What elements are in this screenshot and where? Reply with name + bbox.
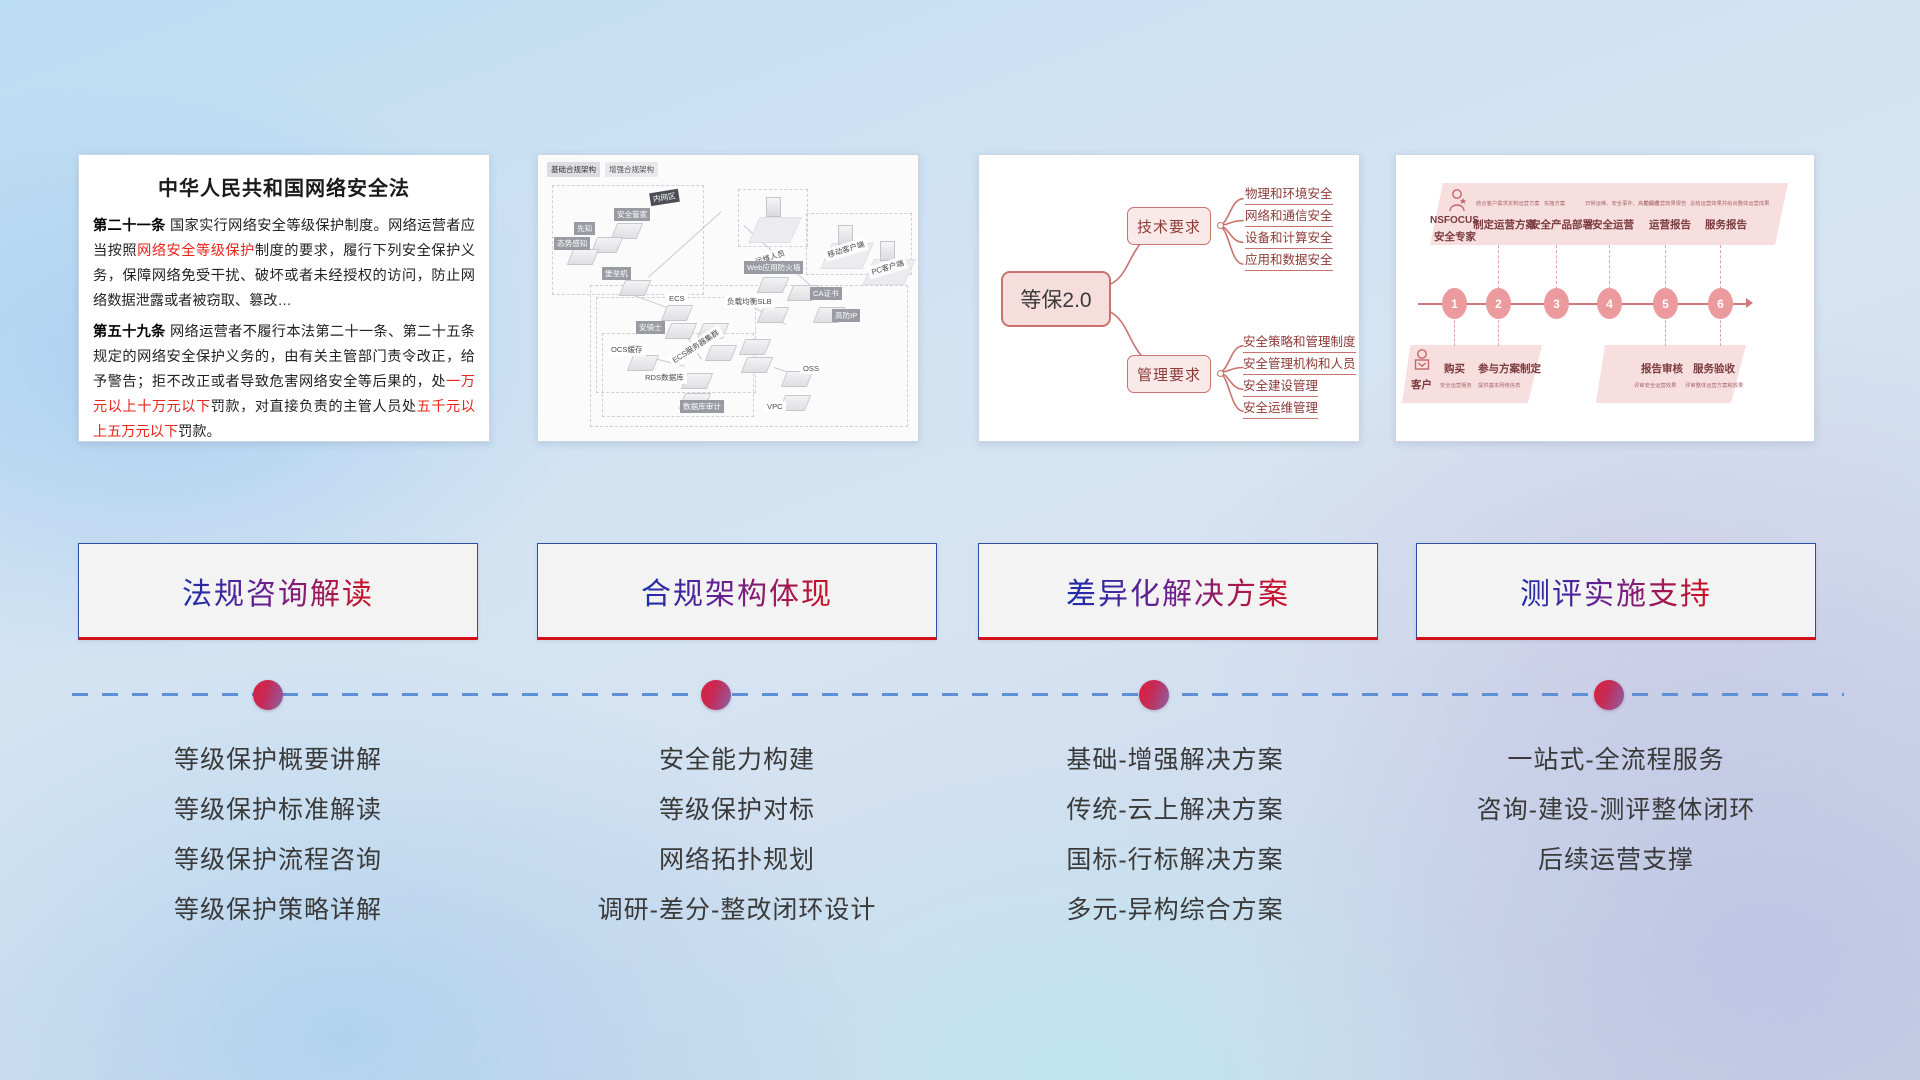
- timeline-bottom-sub-1: 安全运营服务: [1440, 381, 1472, 389]
- preview-cards-row: 中华人民共和国网络安全法 第二十一条 国家实行网络安全等级保护制度。网络运营者应…: [0, 154, 1920, 442]
- list-item: 等级保护策略详解: [78, 885, 478, 935]
- detail-list-column-2: 安全能力构建 等级保护对标 网络拓扑规划 调研-差分-整改闭环设计: [517, 735, 957, 935]
- headline-label-4: 测评实施支持: [1520, 569, 1712, 613]
- timeline-top-title-5: 服务报告: [1705, 217, 1747, 232]
- timeline-top-sub-5: 总结运营效果并给出整体运营成果: [1690, 199, 1769, 207]
- law-body: 第二十一条 国家实行网络安全等级保护制度。网络运营者应当按照网络安全等级保护制度…: [79, 214, 489, 442]
- timeline-step-3[interactable]: 3: [1544, 288, 1569, 319]
- timeline-top-title-3: 安全运营: [1592, 217, 1634, 232]
- architecture-diagram: 基础合规架构 增强合规架构: [538, 155, 918, 441]
- architecture-label-sa: 态势感知: [554, 237, 590, 250]
- timeline-connector-top-6: [1720, 245, 1721, 289]
- detail-list-column-1: 等级保护概要讲解 等级保护标准解读 等级保护流程咨询 等级保护策略详解: [78, 735, 478, 935]
- expert-brand-label: NSFOCUS: [1430, 215, 1479, 226]
- mindmap-branch-management[interactable]: 管理要求: [1127, 355, 1211, 393]
- progress-dot-2[interactable]: [701, 680, 731, 710]
- timeline-top-title-1: 制定运营方案: [1473, 217, 1536, 232]
- mindmap-leaf-tech-1: 物理和环境安全: [1245, 183, 1333, 205]
- architecture-label-rds: RDS数据库: [642, 371, 687, 384]
- headline-box-compliance-architecture[interactable]: 合规架构体现: [537, 543, 937, 640]
- architecture-label-antiddos: 高防IP: [832, 309, 860, 322]
- timeline-bottom-sub-3: 评审安全运营效果: [1634, 381, 1676, 389]
- timeline-connector-bot-1: [1454, 320, 1455, 346]
- timeline-step-2[interactable]: 2: [1486, 288, 1511, 319]
- mindmap-leaf-mgmt-3: 安全建设管理: [1243, 375, 1318, 397]
- headline-box-differentiated-solution[interactable]: 差异化解决方案: [978, 543, 1378, 640]
- progress-dot-1[interactable]: [253, 680, 283, 710]
- progress-dot-4[interactable]: [1594, 680, 1624, 710]
- headline-label-2: 合规架构体现: [641, 569, 833, 613]
- mindmap-branch-technical[interactable]: 技术要求: [1127, 207, 1211, 245]
- timeline-step-6[interactable]: 6: [1708, 288, 1733, 319]
- headline-box-regulation-consulting[interactable]: 法规咨询解读: [78, 543, 478, 640]
- list-item: 多元-异构综合方案: [955, 885, 1395, 935]
- card-mindmap-dengbao[interactable]: 等保2.0 技术要求 物理和环境安全 网络和通信安全 设备和计算安全 应用和数据…: [978, 154, 1360, 442]
- law-title: 中华人民共和国网络安全法: [79, 172, 489, 201]
- mindmap: 等保2.0 技术要求 物理和环境安全 网络和通信安全 设备和计算安全 应用和数据…: [979, 155, 1359, 441]
- architecture-label-ocs: OCS缓存: [608, 343, 646, 356]
- card-cloud-architecture[interactable]: 基础合规架构 增强合规架构: [537, 154, 919, 442]
- architecture-label-ecs: ECS: [666, 293, 688, 304]
- timeline-connector-top-4: [1609, 245, 1610, 289]
- nsfocus-timeline: NSFOCUS 安全专家 客户 1 2 3 4 5 6: [1396, 155, 1814, 441]
- timeline-bottom-title-4: 服务验收: [1693, 361, 1735, 376]
- list-item: 调研-差分-整改闭环设计: [517, 885, 957, 935]
- timeline-bottom-title-3: 报告审核: [1641, 361, 1683, 376]
- customer-avatar-icon: [1410, 347, 1434, 373]
- list-item: 安全能力构建: [517, 735, 957, 785]
- law-article-21-label: 第二十一条: [93, 218, 166, 234]
- law-article-59-text-b: 罚款，对直接负责的主管人员处: [211, 399, 417, 415]
- list-item: 传统-云上解决方案: [955, 785, 1395, 835]
- mindmap-collapse-dot-management[interactable]: [1217, 370, 1224, 377]
- mindmap-leaf-mgmt-4: 安全运维管理: [1243, 397, 1318, 419]
- timeline-bottom-title-2: 参与方案制定: [1478, 361, 1541, 376]
- customer-role-label: 客户: [1411, 377, 1432, 392]
- mindmap-leaf-tech-3: 设备和计算安全: [1245, 227, 1333, 249]
- progress-dot-3[interactable]: [1139, 680, 1169, 710]
- list-item: 一站式-全流程服务: [1396, 735, 1836, 785]
- timeline-arrow-icon: [1746, 298, 1753, 308]
- law-article-21: 第二十一条 国家实行网络安全等级保护制度。网络运营者应当按照网络安全等级保护制度…: [93, 214, 475, 314]
- timeline-step-5[interactable]: 5: [1653, 288, 1678, 319]
- timeline-axis: [1418, 303, 1748, 305]
- timeline-step-1[interactable]: 1: [1442, 288, 1467, 319]
- slide-canvas: 中华人民共和国网络安全法 第二十一条 国家实行网络安全等级保护制度。网络运营者应…: [0, 0, 1920, 1080]
- tab-basic-architecture[interactable]: 基础合规架构: [547, 162, 600, 177]
- card-nsfocus-timeline[interactable]: NSFOCUS 安全专家 客户 1 2 3 4 5 6: [1395, 154, 1815, 442]
- mindmap-leaf-mgmt-2: 安全管理机构和人员: [1243, 353, 1356, 375]
- expert-role-label: 安全专家: [1434, 229, 1476, 244]
- detail-list-column-3: 基础-增强解决方案 传统-云上解决方案 国标-行标解决方案 多元-异构综合方案: [955, 735, 1395, 935]
- headline-row: 法规咨询解读 合规架构体现 差异化解决方案 测评实施支持: [0, 543, 1920, 645]
- architecture-label-agent: 安骑士: [636, 321, 665, 334]
- architecture-server-internet: [766, 197, 781, 217]
- timeline-top-sub-1: 结合客户需求定制运营方案: [1476, 199, 1540, 207]
- timeline-connector-top-3: [1556, 245, 1557, 289]
- timeline-connector-bot-5: [1665, 320, 1666, 346]
- architecture-label-guard: 安全管家: [614, 208, 650, 221]
- timeline-top-title-4: 运营报告: [1649, 217, 1691, 232]
- architecture-label-waf: Web应用防火墙: [744, 261, 803, 274]
- list-item: 后续运营支撑: [1396, 835, 1836, 885]
- list-item: 国标-行标解决方案: [955, 835, 1395, 885]
- timeline-step-4[interactable]: 4: [1597, 288, 1622, 319]
- architecture-label-xianzhi: 先知: [574, 222, 595, 235]
- law-article-59: 第五十九条 网络运营者不履行本法第二十一条、第二十五条规定的网络安全保护义务的，…: [93, 320, 475, 442]
- architecture-label-vpc: VPC: [764, 401, 786, 412]
- list-item: 等级保护标准解读: [78, 785, 478, 835]
- mindmap-leaf-mgmt-1: 安全策略和管理制度: [1243, 331, 1356, 353]
- architecture-label-oss: OSS: [800, 363, 822, 374]
- detail-list-column-4: 一站式-全流程服务 咨询-建设-测评整体闭环 后续运营支撑: [1396, 735, 1836, 885]
- timeline-top-title-2: 安全产品部署: [1530, 217, 1593, 232]
- mindmap-leaf-tech-2: 网络和通信安全: [1245, 205, 1333, 227]
- list-item: 基础-增强解决方案: [955, 735, 1395, 785]
- timeline-connector-top-5: [1665, 245, 1666, 289]
- timeline-bottom-sub-2: 提供基本网络信息: [1478, 381, 1520, 389]
- headline-label-3: 差异化解决方案: [1066, 569, 1290, 613]
- timeline-connector-top-2: [1498, 245, 1499, 289]
- architecture-label-bastion: 堡垒机: [602, 267, 631, 280]
- list-item: 等级保护概要讲解: [78, 735, 478, 785]
- timeline-bottom-sub-4: 评审整体运营方案和效果: [1685, 381, 1743, 389]
- expert-avatar-icon: [1444, 187, 1470, 213]
- timeline-bottom-title-1: 购买: [1444, 361, 1465, 376]
- law-article-59-label: 第五十九条: [93, 324, 166, 340]
- timeline-top-sub-2: 实施方案: [1544, 199, 1565, 207]
- progress-dashed-line: [72, 693, 1844, 696]
- headline-box-assessment-support[interactable]: 测评实施支持: [1416, 543, 1816, 640]
- tab-enhanced-architecture[interactable]: 增强合规架构: [605, 162, 658, 177]
- architecture-tabs: 基础合规架构 增强合规架构: [547, 162, 658, 177]
- headline-label-1: 法规咨询解读: [182, 569, 374, 613]
- timeline-connector-bot-2: [1498, 320, 1499, 346]
- architecture-label-ca: CA证书: [810, 287, 842, 300]
- list-item: 网络拓扑规划: [517, 835, 957, 885]
- mindmap-collapse-dot-technical[interactable]: [1217, 222, 1224, 229]
- mindmap-leaf-tech-4: 应用和数据安全: [1245, 249, 1333, 271]
- mindmap-root[interactable]: 等保2.0: [1001, 271, 1111, 327]
- list-item: 等级保护流程咨询: [78, 835, 478, 885]
- law-article-21-highlight: 网络安全等级保护: [137, 243, 255, 259]
- law-article-59-text-c: 罚款。: [178, 424, 221, 440]
- list-item: 等级保护对标: [517, 785, 957, 835]
- list-item: 咨询-建设-测评整体闭环: [1396, 785, 1836, 835]
- timeline-connector-bot-6: [1720, 320, 1721, 346]
- timeline-top-sub-4: 阶段运营效果报告: [1644, 199, 1686, 207]
- architecture-label-slb: 负载均衡SLB: [724, 295, 775, 308]
- timeline-band-expert: [1430, 183, 1788, 245]
- architecture-label-db-audit: 数据库审计: [680, 400, 724, 413]
- card-cybersecurity-law[interactable]: 中华人民共和国网络安全法 第二十一条 国家实行网络安全等级保护制度。网络运营者应…: [78, 154, 490, 442]
